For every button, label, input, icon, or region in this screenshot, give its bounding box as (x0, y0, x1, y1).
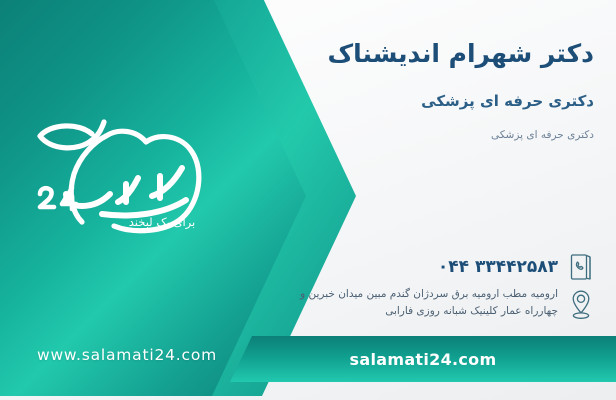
doctor-name: دکتر شهرام اندیشناک (154, 37, 594, 71)
phone-book-icon (564, 248, 598, 286)
salamati-apple-logo-icon: برای یک لبخند (14, 106, 240, 238)
degree-secondary: دکتری حرفه ای پزشکی (154, 129, 594, 141)
contact-row-phone[interactable]: ۳۳۴۴۲۵۸۳ ۰۴۴ (128, 248, 598, 286)
address-line: چهارراه عمار کلینیک شبانه روزی فارابی (128, 303, 558, 320)
footer-website: salamati24.com (350, 350, 497, 369)
logo-website-url: www.salamati24.com (14, 346, 240, 364)
map-pin-icon (564, 286, 598, 324)
logo-tagline: برای یک لبخند (129, 215, 195, 230)
phone-number: ۳۳۴۴۲۵۸۳ ۰۴۴ (128, 257, 558, 277)
business-card: برای یک لبخند www.salamati24.com دکتر شه… (0, 0, 616, 400)
phone-text-wrapper: ۳۳۴۴۲۵۸۳ ۰۴۴ (128, 257, 564, 277)
contact-row-address[interactable]: ارومیه مطب ارومیه برق سردژان گندم مبین م… (128, 286, 598, 324)
footer-banner[interactable]: salamati24.com (230, 336, 616, 382)
degree-primary: دکتری حرفه ای پزشکی (154, 92, 594, 110)
address-text-wrapper: ارومیه مطب ارومیه برق سردژان گندم مبین م… (128, 286, 564, 321)
address-line: ارومیه مطب ارومیه برق سردژان گندم مبین م… (128, 286, 558, 303)
